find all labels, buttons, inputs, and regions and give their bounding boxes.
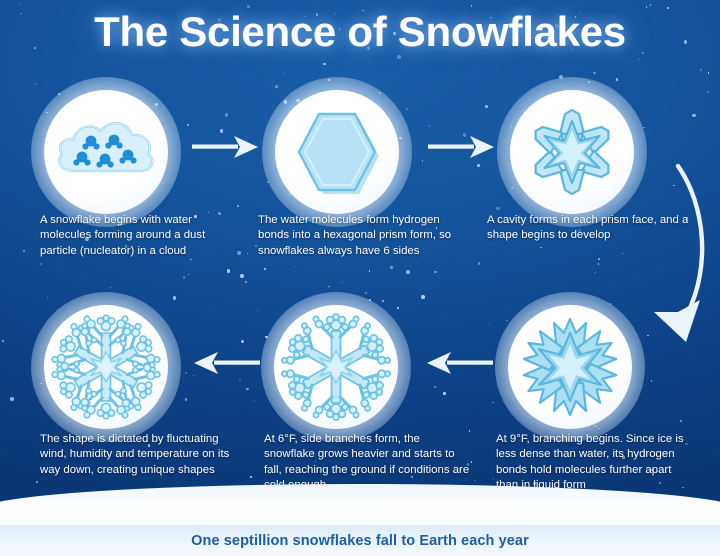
step-2-caption: The water molecules form hydrogen bonds …	[258, 213, 472, 259]
arrow-4-to-5	[423, 350, 493, 376]
step-6-illustration	[44, 305, 168, 429]
arrow-1-to-2	[192, 134, 260, 160]
page-title: The Science of Snowflakes	[0, 8, 720, 56]
arrow-5-to-6	[190, 350, 260, 376]
step-5-circle[interactable]	[274, 305, 398, 429]
side-branch-snowflake-icon	[280, 311, 392, 423]
step-5-illustration	[274, 305, 398, 429]
hexagonal-star-cavity-icon	[524, 104, 620, 200]
dendritic-snowflake-icon	[47, 308, 165, 426]
hexagonal-prism-icon	[289, 106, 385, 198]
arrow-2-to-3	[428, 134, 496, 160]
infographic-canvas: The Science of Snowflakes	[0, 0, 720, 556]
arrow-3-to-4	[628, 160, 716, 360]
step-1-illustration	[44, 90, 168, 214]
step-2-illustration	[275, 90, 399, 214]
step-1-circle[interactable]	[44, 90, 168, 214]
step-6-circle[interactable]	[44, 305, 168, 429]
step-4-circle[interactable]	[508, 305, 632, 429]
footer-banner: One septillion snowflakes fall to Earth …	[0, 525, 720, 556]
step-3-caption: A cavity forms in each prism face, and a…	[487, 213, 699, 244]
step-4-illustration	[508, 305, 632, 429]
step-2-circle[interactable]	[275, 90, 399, 214]
footer-text: One septillion snowflakes fall to Earth …	[191, 533, 529, 549]
step-1-caption: A snowflake begins with water molecules …	[40, 213, 240, 259]
branching-star-crystal-icon	[516, 313, 624, 421]
step-3-circle[interactable]	[510, 90, 634, 214]
cloud-with-water-molecules-icon	[54, 113, 158, 191]
step-4-caption: At 9°F, branching begins. Since ice is l…	[496, 432, 696, 494]
step-6-caption: The shape is dictated by fluctuating win…	[40, 432, 238, 478]
step-3-illustration	[510, 90, 634, 214]
